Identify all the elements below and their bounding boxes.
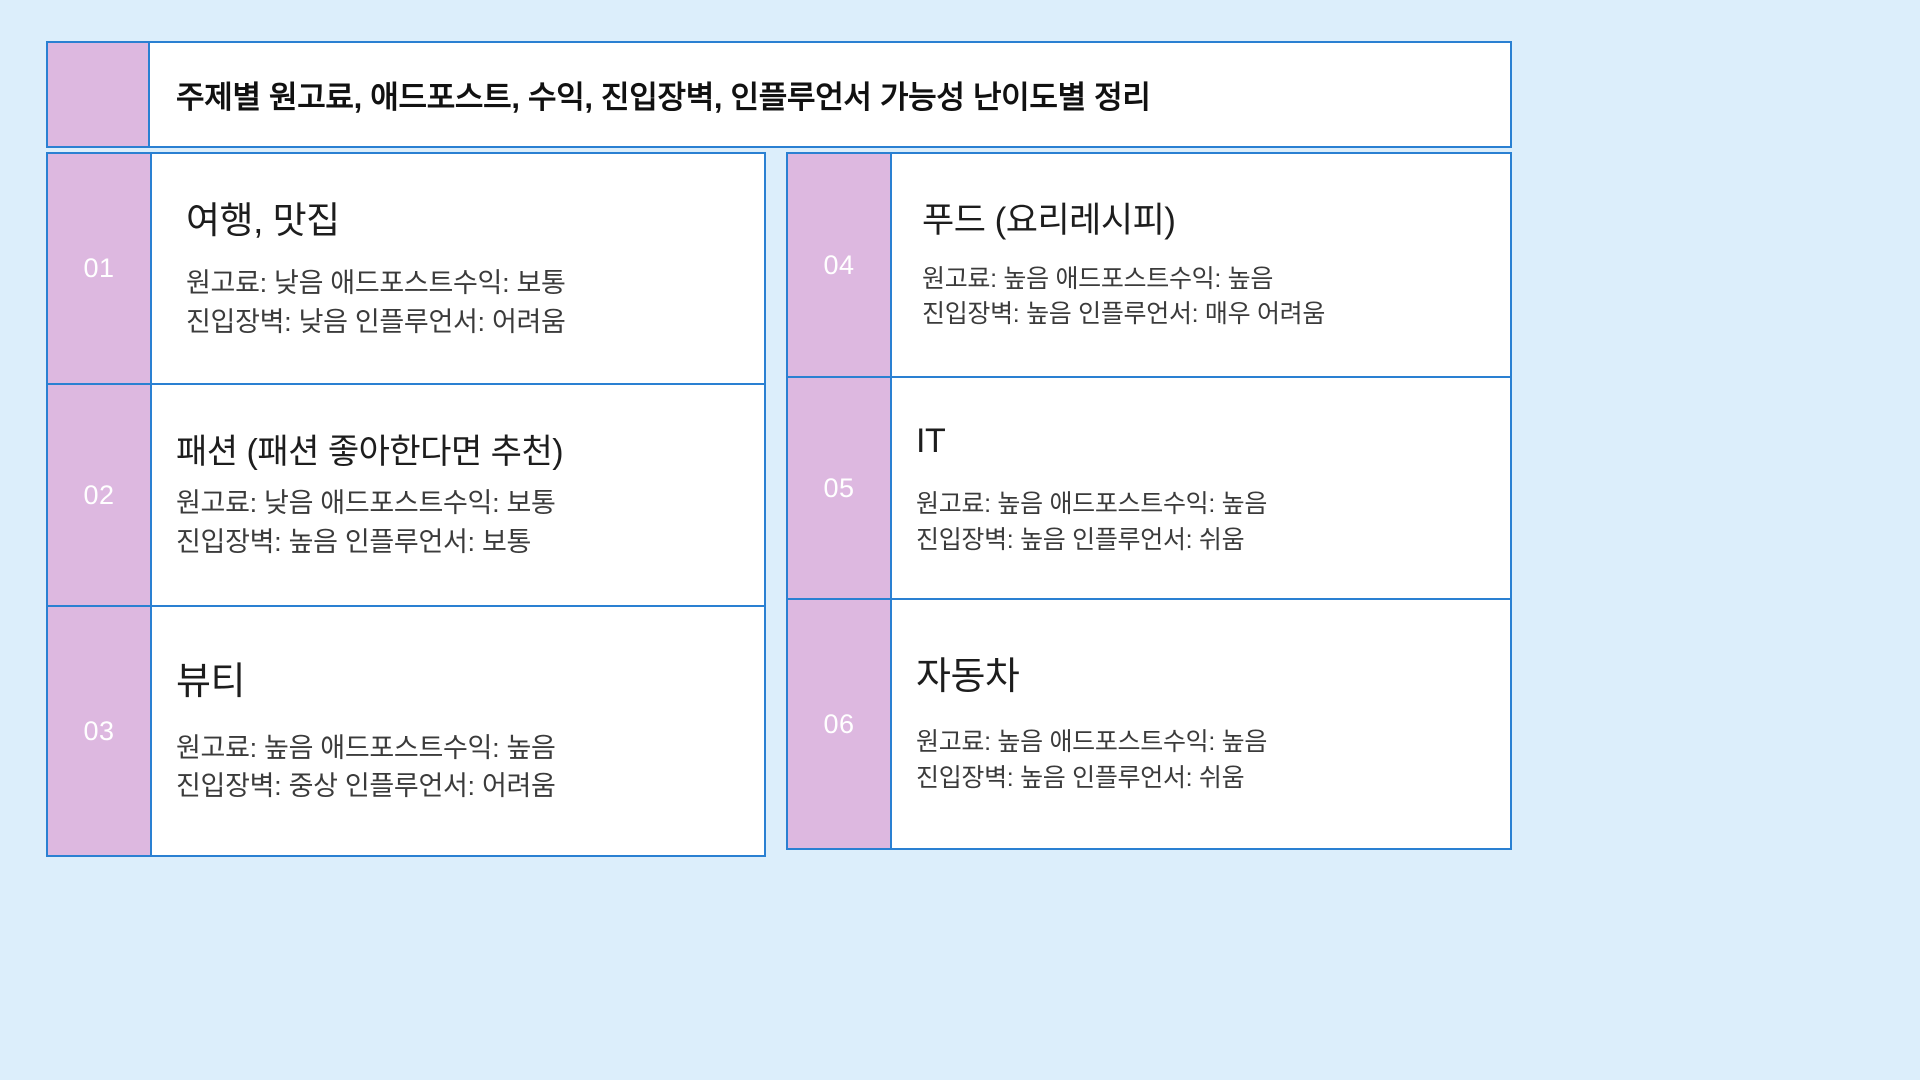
header-row: 주제별 원고료, 애드포스트, 수익, 진입장벽, 인플루언서 가능성 난이도별… (46, 41, 1512, 148)
card-detail-lines: 원고료: 높음 애드포스트수익: 높음 진입장벽: 중상 인플루언서: 어려움 (176, 729, 764, 806)
card-title: 패션 (패션 좋아한다면 추천) (176, 433, 764, 472)
card-detail-lines: 원고료: 낮음 애드포스트수익: 보통 진입장벽: 낮음 인플루언서: 어려움 (186, 264, 764, 341)
right-column: 04 푸드 (요리레시피) 원고료: 높음 애드포스트수익: 높음 진입장벽: … (786, 152, 1512, 850)
card-number-badge: 04 (788, 154, 892, 376)
card-detail-line-2: 진입장벽: 높음 인플루언서: 쉬움 (916, 761, 1510, 797)
card-detail-line-2: 진입장벽: 낮음 인플루언서: 어려움 (186, 303, 764, 341)
card-title: 뷰티 (176, 661, 764, 705)
card-number-badge: 05 (788, 378, 892, 598)
card-detail-line-2: 진입장벽: 높음 인플루언서: 쉬움 (916, 523, 1510, 559)
card-body: 자동차 원고료: 높음 애드포스트수익: 높음 진입장벽: 높음 인플루언서: … (892, 600, 1510, 848)
card-detail-line-2: 진입장벽: 높음 인플루언서: 보통 (176, 523, 764, 561)
header-title-cell: 주제별 원고료, 애드포스트, 수익, 진입장벽, 인플루언서 가능성 난이도별… (150, 41, 1512, 148)
card-title: 여행, 맛집 (186, 200, 764, 243)
card-detail-line-2: 진입장벽: 높음 인플루언서: 매우 어려움 (922, 297, 1510, 333)
left-column: 01 여행, 맛집 원고료: 낮음 애드포스트수익: 보통 진입장벽: 낮음 인… (46, 152, 766, 857)
card-01[interactable]: 01 여행, 맛집 원고료: 낮음 애드포스트수익: 보통 진입장벽: 낮음 인… (46, 152, 766, 385)
card-detail-lines: 원고료: 높음 애드포스트수익: 높음 진입장벽: 높음 인플루언서: 쉬움 (916, 487, 1510, 558)
card-detail-lines: 원고료: 높음 애드포스트수익: 높음 진입장벽: 높음 인플루언서: 쉬움 (916, 725, 1510, 796)
card-detail-line-1: 원고료: 높음 애드포스트수익: 높음 (916, 487, 1510, 523)
card-number-badge: 06 (788, 600, 892, 848)
card-05[interactable]: 05 IT 원고료: 높음 애드포스트수익: 높음 진입장벽: 높음 인플루언서… (786, 378, 1512, 600)
card-body: 패션 (패션 좋아한다면 추천) 원고료: 낮음 애드포스트수익: 보통 진입장… (152, 385, 764, 605)
card-number-badge: 03 (48, 607, 152, 855)
card-title: 푸드 (요리레시피) (922, 201, 1510, 241)
card-body: 뷰티 원고료: 높음 애드포스트수익: 높음 진입장벽: 중상 인플루언서: 어… (152, 607, 764, 855)
card-detail-lines: 원고료: 높음 애드포스트수익: 높음 진입장벽: 높음 인플루언서: 매우 어… (922, 262, 1510, 333)
card-body: IT 원고료: 높음 애드포스트수익: 높음 진입장벽: 높음 인플루언서: 쉬… (892, 378, 1510, 598)
card-02[interactable]: 02 패션 (패션 좋아한다면 추천) 원고료: 낮음 애드포스트수익: 보통 … (46, 385, 766, 607)
header-badge-block (46, 41, 150, 148)
card-title: 자동차 (916, 656, 1510, 700)
card-number-badge: 01 (48, 154, 152, 383)
card-06[interactable]: 06 자동차 원고료: 높음 애드포스트수익: 높음 진입장벽: 높음 인플루언… (786, 600, 1512, 850)
card-03[interactable]: 03 뷰티 원고료: 높음 애드포스트수익: 높음 진입장벽: 중상 인플루언서… (46, 607, 766, 857)
card-detail-line-1: 원고료: 낮음 애드포스트수익: 보통 (176, 484, 764, 522)
card-body: 여행, 맛집 원고료: 낮음 애드포스트수익: 보통 진입장벽: 낮음 인플루언… (152, 154, 764, 383)
slide-canvas: 주제별 원고료, 애드포스트, 수익, 진입장벽, 인플루언서 가능성 난이도별… (0, 0, 1920, 1080)
card-detail-lines: 원고료: 낮음 애드포스트수익: 보통 진입장벽: 높음 인플루언서: 보통 (176, 484, 764, 561)
card-detail-line-1: 원고료: 높음 애드포스트수익: 높음 (916, 725, 1510, 761)
card-title: IT (916, 422, 1510, 461)
card-detail-line-1: 원고료: 낮음 애드포스트수익: 보통 (186, 264, 764, 302)
card-detail-line-1: 원고료: 높음 애드포스트수익: 높음 (922, 262, 1510, 298)
card-04[interactable]: 04 푸드 (요리레시피) 원고료: 높음 애드포스트수익: 높음 진입장벽: … (786, 152, 1512, 378)
page-title: 주제별 원고료, 애드포스트, 수익, 진입장벽, 인플루언서 가능성 난이도별… (176, 72, 1151, 117)
card-detail-line-1: 원고료: 높음 애드포스트수익: 높음 (176, 729, 764, 767)
card-number-badge: 02 (48, 385, 152, 605)
card-detail-line-2: 진입장벽: 중상 인플루언서: 어려움 (176, 767, 764, 805)
card-body: 푸드 (요리레시피) 원고료: 높음 애드포스트수익: 높음 진입장벽: 높음 … (892, 154, 1510, 376)
